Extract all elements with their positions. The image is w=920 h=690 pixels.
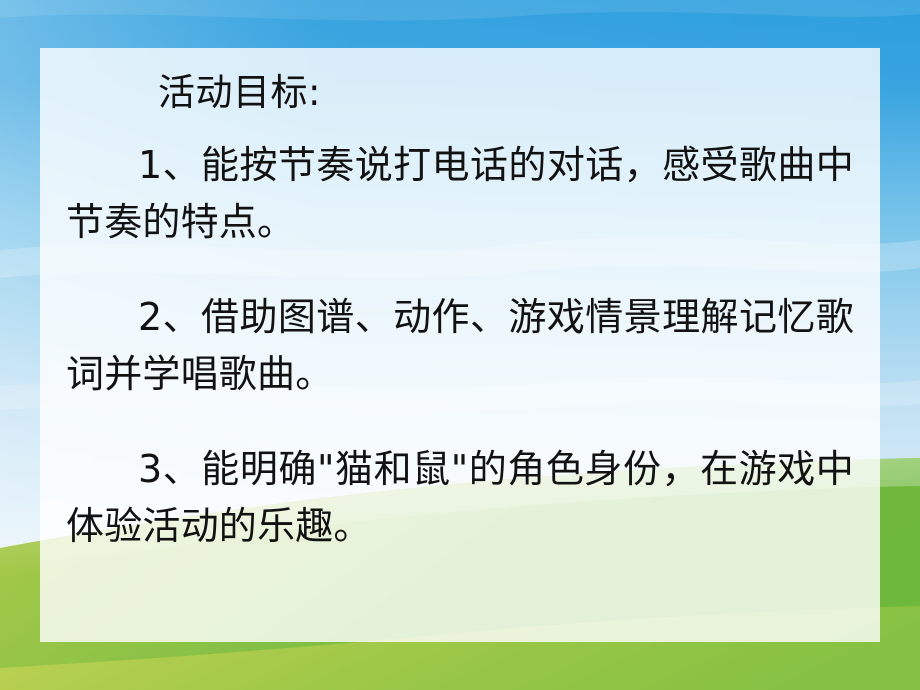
- goal-item-3: 3、能明确"猫和鼠"的角色身份，在游戏中体验活动的乐趣。: [66, 441, 854, 555]
- goal-item-2: 2、借助图谱、动作、游戏情景理解记忆歌词并学唱歌曲。: [66, 289, 854, 403]
- content-panel: 活动目标: 1、能按节奏说打电话的对话，感受歌曲中节奏的特点。 2、借助图谱、动…: [40, 48, 880, 642]
- presentation-slide: 活动目标: 1、能按节奏说打电话的对话，感受歌曲中节奏的特点。 2、借助图谱、动…: [0, 0, 920, 690]
- goal-item-1: 1、能按节奏说打电话的对话，感受歌曲中节奏的特点。: [66, 137, 854, 251]
- page-title: 活动目标:: [158, 74, 854, 111]
